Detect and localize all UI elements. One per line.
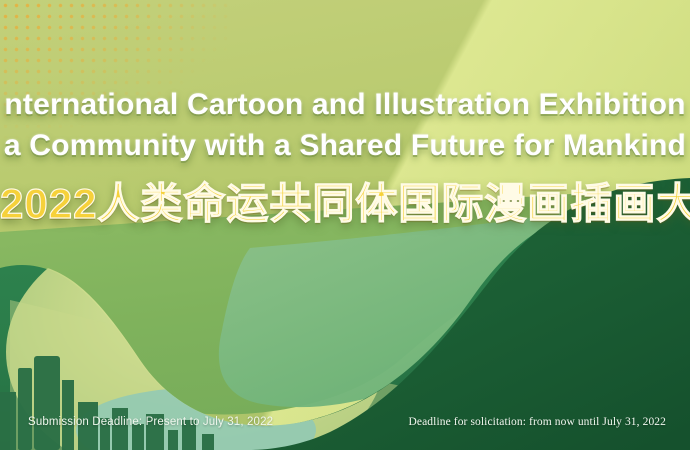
poster-chinese-title: 2022人类命运共同体国际漫画插画大展 xyxy=(0,178,690,230)
poster-canvas: nternational Cartoon and Illustration Ex… xyxy=(0,0,690,450)
submission-deadline-text: Submission Deadline: Present to July 31,… xyxy=(28,416,273,428)
solicitation-deadline-text: Deadline for solicitation: from now unti… xyxy=(408,416,666,428)
